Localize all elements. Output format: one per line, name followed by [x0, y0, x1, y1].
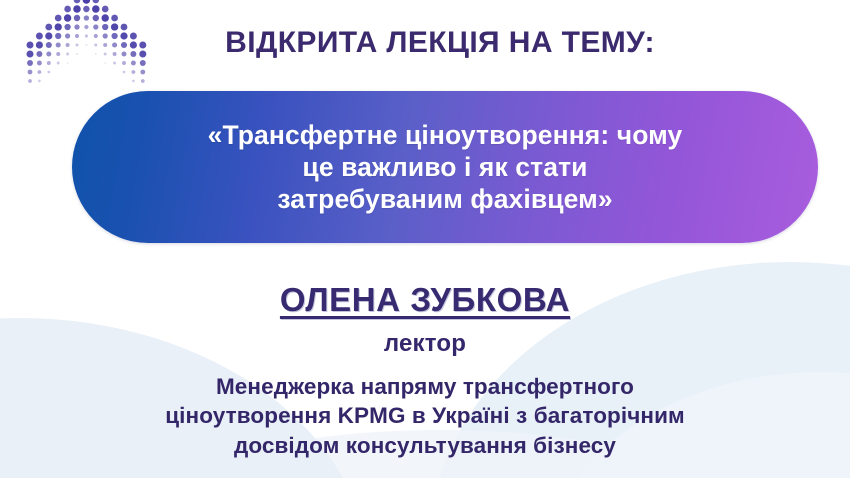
speaker-name: ОЛЕНА ЗУБКОВА — [0, 281, 850, 319]
lecture-topic-banner: «Трансфертне ціноутворення: чому це важл… — [72, 91, 818, 243]
banner-line-3: затребуваним фахівцем» — [208, 183, 683, 215]
lecture-topic-text: «Трансфертне ціноутворення: чому це важл… — [182, 119, 709, 216]
banner-line-2: це важливо і як стати — [208, 151, 683, 183]
description-line-1: Менеджерка напряму трансфертного — [40, 372, 810, 401]
banner-line-1: «Трансфертне ціноутворення: чому — [208, 119, 683, 151]
speaker-description: Менеджерка напряму трансфертного ціноутв… — [40, 372, 810, 460]
speaker-role: лектор — [0, 330, 850, 358]
poster-canvas: ВІДКРИТА ЛЕКЦІЯ НА ТЕМУ: «Трансфертне ці… — [0, 0, 850, 478]
description-line-2: ціноутворення KPMG в Україні з багаторіч… — [40, 401, 810, 430]
description-line-3: досвідом консультування бізнесу — [40, 431, 810, 460]
page-title: ВІДКРИТА ЛЕКЦІЯ НА ТЕМУ: — [160, 27, 720, 59]
halftone-chevron-logo-icon — [24, 0, 154, 88]
